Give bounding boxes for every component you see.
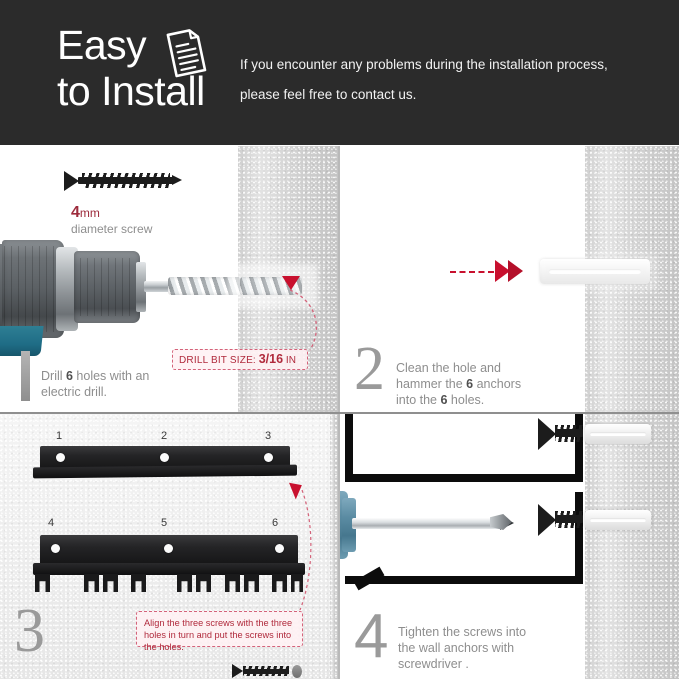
hole-label-5: 5 bbox=[157, 517, 171, 529]
screw-icon bbox=[232, 664, 304, 678]
hole-label-1: 1 bbox=[52, 430, 66, 442]
mounting-hole-2 bbox=[160, 453, 169, 462]
wall-surface bbox=[585, 414, 679, 679]
step-4-caption-line-2: the wall anchors with bbox=[398, 641, 514, 655]
screw-size-annotation: 4mm diameter screw bbox=[71, 205, 152, 237]
step-2-caption-line-1: Clean the hole and bbox=[396, 361, 501, 375]
step-2-caption-line-2a: hammer the bbox=[396, 377, 466, 391]
step-1-panel: 4mm diameter screw bbox=[0, 146, 338, 412]
header-description-line-1: If you encounter any problems during the… bbox=[240, 50, 650, 80]
step-1-caption: Drill 6 holes with an electric drill. bbox=[41, 368, 216, 400]
step-3-number: 3 bbox=[14, 600, 45, 662]
step-2-number: 2 bbox=[354, 338, 385, 400]
hole-label-2: 2 bbox=[157, 430, 171, 442]
step-2-panel: 2 Clean the hole and hammer the 6 anchor… bbox=[340, 146, 679, 412]
anchor-slot bbox=[590, 518, 645, 522]
step-2-caption-line-3b: holes. bbox=[447, 393, 484, 407]
step-4-panel: 4 Tighten the screws into the wall ancho… bbox=[340, 414, 679, 679]
step-4-caption: Tighten the screws into the wall anchors… bbox=[398, 624, 588, 672]
screw-lower bbox=[538, 510, 584, 530]
screw-size-value: 4 bbox=[71, 204, 80, 221]
step-2-caption: Clean the hole and hammer the 6 anchors … bbox=[396, 360, 586, 408]
mounting-hole-3 bbox=[264, 453, 273, 462]
step-4-number: 4 bbox=[354, 606, 388, 668]
wall-anchor-upper bbox=[585, 424, 651, 444]
document-icon bbox=[160, 24, 208, 82]
alignment-leader-line bbox=[280, 488, 324, 618]
drill-bit-size-callout: DRILL BIT SIZE: 3/16 IN bbox=[172, 349, 308, 370]
mounting-hole-4 bbox=[51, 544, 60, 553]
panel-divider-horizontal bbox=[0, 412, 679, 414]
infographic-page: Easy to Install If you bbox=[0, 0, 679, 679]
step-1-caption-suffix: holes with an bbox=[73, 369, 149, 383]
drill-bit-size-unit: IN bbox=[286, 355, 296, 366]
step-3-callout: Align the three screws with the three ho… bbox=[136, 611, 303, 647]
mounting-hole-5 bbox=[164, 544, 173, 553]
header-description-line-2: please feel free to contact us. bbox=[240, 80, 650, 110]
header-banner: Easy to Install If you bbox=[0, 0, 679, 145]
hole-label-3: 3 bbox=[261, 430, 275, 442]
step-1-number bbox=[21, 351, 30, 401]
step-2-caption-line-2b: anchors bbox=[473, 377, 521, 391]
step-3-panel: 1 2 3 4 5 6 bbox=[0, 414, 338, 679]
screw-upper bbox=[538, 424, 584, 444]
step-1-caption-line-2: electric drill. bbox=[41, 385, 107, 399]
hole-label-4: 4 bbox=[44, 517, 58, 529]
step-2-caption-line-3a: into the bbox=[396, 393, 440, 407]
step-1-caption-prefix: Drill bbox=[41, 369, 66, 383]
screw-illustration bbox=[64, 171, 182, 191]
drill-bit-size-value: 3/16 bbox=[259, 352, 283, 366]
drill-bit-size-label: DRILL BIT SIZE: bbox=[179, 355, 256, 366]
lower-bracket-right-wall bbox=[575, 492, 583, 584]
screw-size-label: diameter screw bbox=[71, 221, 152, 237]
header-description: If you encounter any problems during the… bbox=[240, 50, 650, 110]
screw-head-end bbox=[292, 665, 302, 678]
anchor-slot bbox=[590, 432, 645, 436]
callout-leader-line bbox=[270, 288, 330, 358]
mounting-hole-1 bbox=[56, 453, 65, 462]
screw-size-unit: mm bbox=[80, 206, 100, 220]
step-4-caption-line-1: Tighten the screws into bbox=[398, 625, 526, 639]
wall-anchor-lower bbox=[585, 510, 651, 530]
step-4-caption-line-3: screwdriver . bbox=[398, 657, 469, 671]
step-1-caption-count: 6 bbox=[66, 369, 73, 383]
wall-edge-strip bbox=[330, 414, 338, 679]
